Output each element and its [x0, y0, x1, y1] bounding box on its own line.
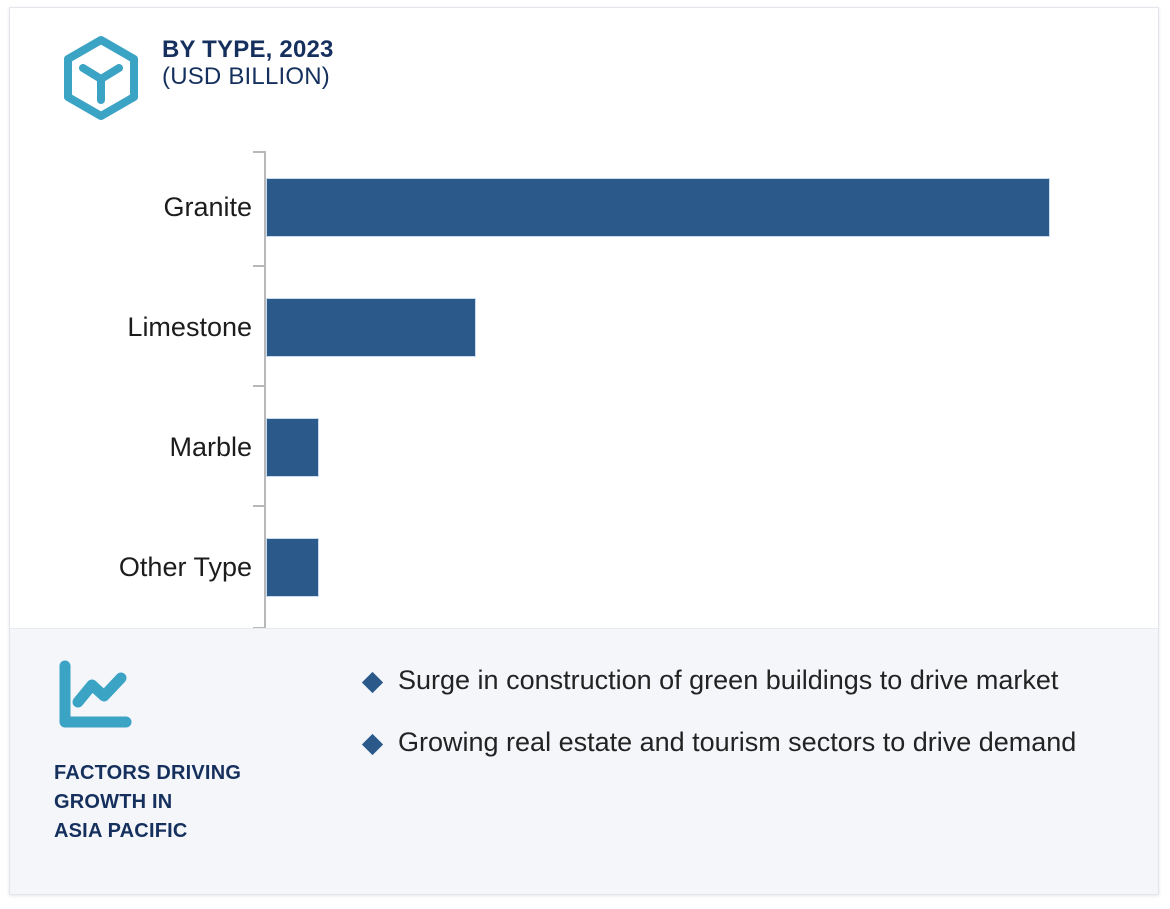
bullet-text: Surge in construction of green buildings…	[398, 663, 1103, 699]
list-item: Growing real estate and tourism sectors …	[363, 725, 1103, 761]
factors-heading-line-1: FACTORS DRIVING	[54, 759, 344, 788]
y-axis-tick-1	[253, 265, 264, 267]
factors-heading-line-3: ASIA PACIFIC	[54, 817, 344, 846]
bar-other-type	[266, 538, 319, 597]
category-label-granite: Granite	[22, 192, 252, 223]
bar-chart: Granite Limestone Marble Other Type	[10, 8, 1159, 628]
diamond-bullet-icon	[362, 672, 383, 693]
bar-marble	[266, 418, 319, 477]
factors-heading: FACTORS DRIVING GROWTH IN ASIA PACIFIC	[54, 759, 344, 846]
y-axis-tick-2	[253, 385, 264, 387]
bar-limestone	[266, 298, 476, 357]
y-axis-tick-3	[253, 505, 264, 507]
factors-panel: FACTORS DRIVING GROWTH IN ASIA PACIFIC S…	[10, 628, 1159, 895]
category-label-marble: Marble	[22, 432, 252, 463]
list-item: Surge in construction of green buildings…	[363, 663, 1103, 699]
line-chart-icon	[54, 658, 134, 736]
y-axis-top-cap	[253, 151, 264, 153]
bullet-text: Growing real estate and tourism sectors …	[398, 725, 1103, 761]
factors-heading-line-2: GROWTH IN	[54, 788, 344, 817]
category-label-other-type: Other Type	[22, 552, 252, 583]
diamond-bullet-icon	[362, 734, 383, 755]
factors-bullet-list: Surge in construction of green buildings…	[363, 663, 1103, 787]
bar-granite	[266, 178, 1050, 237]
infographic-card: BY TYPE, 2023 (USD BILLION) Granite Lime…	[9, 7, 1159, 895]
category-label-limestone: Limestone	[22, 312, 252, 343]
